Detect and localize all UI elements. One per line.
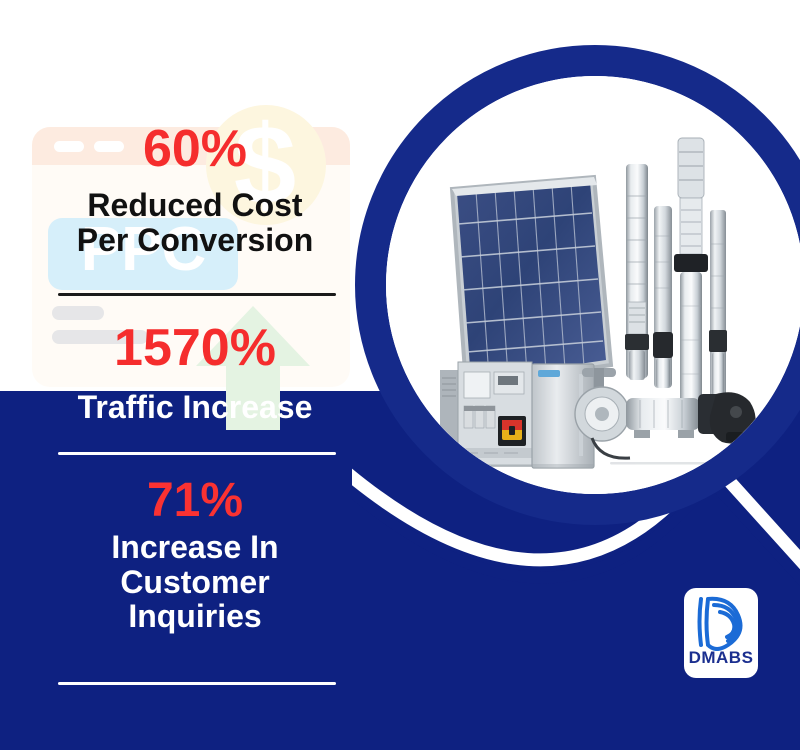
stat-label-reduced-cost: Reduced Cost Per Conversion	[0, 188, 390, 257]
product-photo-disc	[386, 76, 800, 494]
dmabs-logo[interactable]: DMABS	[684, 588, 758, 678]
stat-label-line: Increase In	[0, 530, 390, 565]
stat-divider	[58, 452, 336, 455]
stat-label-line: Per Conversion	[0, 223, 390, 258]
stat-value-71: 71%	[0, 477, 390, 525]
stat-divider	[58, 682, 336, 685]
dmabs-logo-text: DMABS	[684, 648, 758, 668]
stat-label-traffic-increase: Traffic Increase	[0, 390, 390, 425]
stat-label-customer-inquiries: Increase In Customer Inquiries	[0, 530, 390, 634]
stat-divider	[58, 293, 336, 296]
dmabs-swirl-mark	[691, 593, 751, 651]
stat-value-1570: 1570%	[0, 322, 390, 374]
stat-label-line: Reduced Cost	[0, 188, 390, 223]
stat-label-line: Inquiries	[0, 599, 390, 634]
stat-label-line: Customer	[0, 565, 390, 600]
stats-column: 60% Reduced Cost Per Conversion 1570% Tr…	[0, 0, 390, 750]
solar-water-pump-system-photo	[386, 76, 800, 494]
stat-value-60: 60%	[0, 123, 390, 175]
stat-label-line: Traffic Increase	[0, 390, 390, 425]
marketing-infographic: $ PPC 60% Reduced Cost Per Conversion 15…	[0, 0, 800, 750]
